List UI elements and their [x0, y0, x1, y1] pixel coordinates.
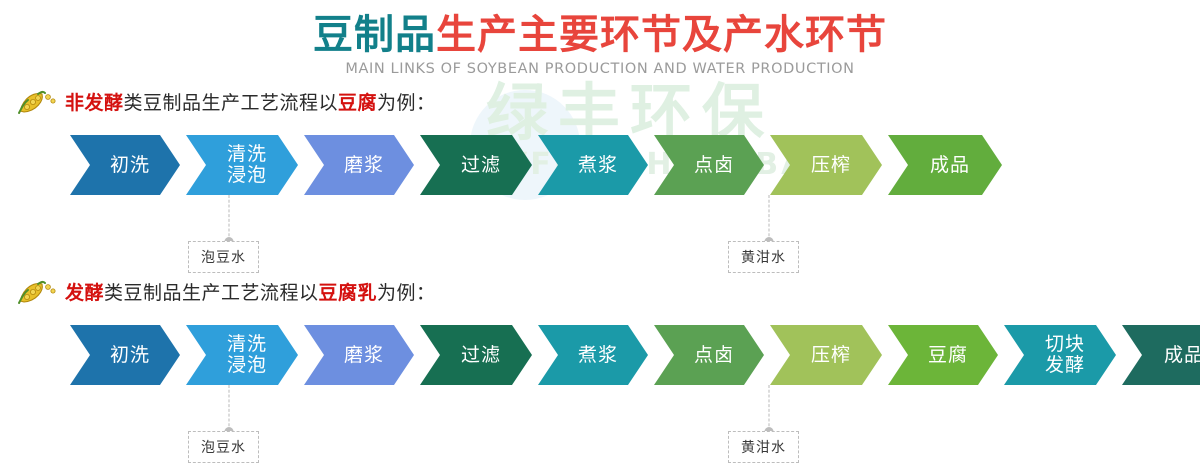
process-step-磨浆[interactable]: 磨浆: [304, 325, 414, 385]
process-step-label: 压榨: [811, 155, 851, 176]
process-step-豆腐[interactable]: 豆腐: [888, 325, 998, 385]
process-step-过滤[interactable]: 过滤: [420, 135, 532, 195]
process-step-清洗浸泡[interactable]: 清洗浸泡: [186, 135, 298, 195]
section-caption-nonfermented: 非发酵类豆制品生产工艺流程以豆腐为例：: [16, 88, 436, 115]
callout-stem: [769, 385, 770, 431]
process-step-label: 成品: [930, 155, 970, 176]
process-step-label: 磨浆: [344, 345, 384, 366]
page-subtitle: MAIN LINKS OF SOYBEAN PRODUCTION AND WAT…: [0, 61, 1200, 77]
process-flow-nonfermented: 初洗清洗浸泡磨浆过滤煮浆点卤压榨成品: [70, 135, 1008, 195]
process-step-label: 点卤: [694, 155, 734, 176]
process-step-label: 磨浆: [344, 155, 384, 176]
callout-label: 泡豆水: [188, 241, 259, 273]
caption-text-row2: 发酵类豆制品生产工艺流程以豆腐乳为例：: [65, 278, 436, 305]
process-step-label: 煮浆: [578, 155, 618, 176]
process-step-label: 清洗浸泡: [227, 144, 267, 187]
process-step-磨浆[interactable]: 磨浆: [304, 135, 414, 195]
process-step-煮浆[interactable]: 煮浆: [538, 325, 648, 385]
process-step-label: 点卤: [694, 345, 734, 366]
caption-row2-post: 为例：: [377, 282, 436, 304]
caption-row1-mid: 类豆制品生产工艺流程以: [124, 92, 339, 114]
process-step-label: 初洗: [110, 345, 150, 366]
process-step-点卤[interactable]: 点卤: [654, 325, 764, 385]
caption-row1-hl1: 非发酵: [65, 92, 124, 114]
soybean-pod-icon: [16, 279, 56, 305]
callout-label: 黄泔水: [728, 241, 799, 273]
process-step-成品[interactable]: 成品: [1122, 325, 1200, 385]
caption-row1-hl2: 豆腐: [338, 92, 377, 114]
process-step-煮浆[interactable]: 煮浆: [538, 135, 648, 195]
process-step-过滤[interactable]: 过滤: [420, 325, 532, 385]
callout-label: 黄泔水: [728, 431, 799, 463]
caption-row2-hl2: 豆腐乳: [319, 282, 378, 304]
process-step-清洗浸泡[interactable]: 清洗浸泡: [186, 325, 298, 385]
caption-text-row1: 非发酵类豆制品生产工艺流程以豆腐为例：: [65, 88, 436, 115]
process-step-label: 初洗: [110, 155, 150, 176]
callout-stem: [229, 385, 230, 431]
process-step-初洗[interactable]: 初洗: [70, 325, 180, 385]
process-step-切块发酵[interactable]: 切块发酵: [1004, 325, 1116, 385]
page-title-part3: 产水环节: [723, 12, 887, 58]
process-step-压榨[interactable]: 压榨: [770, 325, 882, 385]
process-flow-fermented: 初洗清洗浸泡磨浆过滤煮浆点卤压榨豆腐切块发酵成品: [70, 325, 1200, 385]
process-step-压榨[interactable]: 压榨: [770, 135, 882, 195]
callout-label: 泡豆水: [188, 431, 259, 463]
caption-row2-hl1: 发酵: [65, 282, 104, 304]
section-caption-fermented: 发酵类豆制品生产工艺流程以豆腐乳为例：: [16, 278, 436, 305]
infographic-canvas: 绿丰环保 LVFENG HUANBAO 豆制品生产主要环节及产水环节 MAIN …: [0, 0, 1200, 465]
process-step-label: 过滤: [461, 155, 501, 176]
process-step-label: 切块发酵: [1045, 334, 1085, 377]
callout-stem: [229, 195, 230, 241]
page-title-part1: 豆制品: [313, 12, 436, 58]
process-step-label: 煮浆: [578, 345, 618, 366]
process-step-label: 清洗浸泡: [227, 334, 267, 377]
page-title-part2: 生产主要环节及: [436, 12, 723, 58]
process-step-成品[interactable]: 成品: [888, 135, 1002, 195]
page-title: 豆制品生产主要环节及产水环节: [0, 12, 1200, 58]
callout-stem: [769, 195, 770, 241]
soybean-pod-icon: [16, 89, 56, 115]
process-step-点卤[interactable]: 点卤: [654, 135, 764, 195]
caption-row2-mid: 类豆制品生产工艺流程以: [104, 282, 319, 304]
process-step-label: 压榨: [811, 345, 851, 366]
caption-row1-post: 为例：: [377, 92, 436, 114]
process-step-初洗[interactable]: 初洗: [70, 135, 180, 195]
process-step-label: 成品: [1164, 345, 1200, 366]
process-step-label: 过滤: [461, 345, 501, 366]
process-step-label: 豆腐: [928, 345, 968, 366]
